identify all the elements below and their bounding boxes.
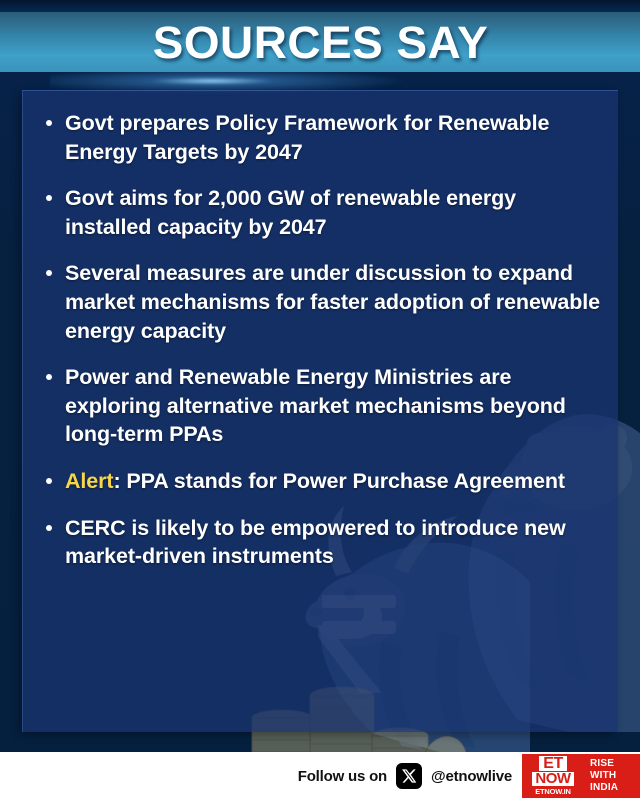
list-item-alert: Alert: PPA stands for Power Purchase Agr…: [39, 467, 604, 496]
bullet-panel: Govt prepares Policy Framework for Renew…: [22, 90, 618, 732]
et-row: ET: [525, 756, 581, 771]
x-twitter-icon[interactable]: [396, 763, 422, 789]
et-word: ET: [539, 756, 566, 771]
etnow-logo[interactable]: ET NOW ETNOW.IN RISE WITH INDIA: [522, 754, 640, 798]
list-item: Govt aims for 2,000 GW of renewable ener…: [39, 184, 604, 241]
list-item: Govt prepares Policy Framework for Renew…: [39, 109, 604, 166]
tagline-line-3: INDIA: [590, 782, 640, 794]
social-handle[interactable]: @etnowlive: [431, 768, 512, 785]
bullet-list: Govt prepares Policy Framework for Renew…: [39, 109, 604, 571]
x-glyph: [401, 768, 417, 784]
tagline-line-2: WITH: [590, 770, 640, 782]
poster-root: SOURCES SAY: [0, 0, 640, 800]
list-item: Power and Renewable Energy Ministries ar…: [39, 363, 604, 449]
page-title: SOURCES SAY: [152, 20, 488, 65]
etnow-logo-block: ET NOW ETNOW.IN: [522, 754, 584, 798]
etnow-domain: ETNOW.IN: [535, 787, 570, 796]
now-word: NOW: [532, 772, 573, 786]
header-band: SOURCES SAY: [0, 12, 640, 72]
alert-label: Alert: [65, 469, 113, 493]
list-item: Several measures are under discussion to…: [39, 259, 604, 345]
content-area: Govt prepares Policy Framework for Renew…: [0, 72, 640, 752]
follow-label: Follow us on: [298, 768, 387, 785]
alert-text: : PPA stands for Power Purchase Agreemen…: [113, 469, 565, 493]
top-strip: [0, 0, 640, 12]
tagline-line-1: RISE: [590, 758, 640, 770]
footer-bar: Follow us on @etnowlive ET NOW ETNOW.IN …: [0, 752, 640, 800]
now-row: NOW: [525, 771, 581, 786]
list-item: CERC is likely to be empowered to introd…: [39, 514, 604, 571]
tagline-block: RISE WITH INDIA: [584, 754, 640, 798]
